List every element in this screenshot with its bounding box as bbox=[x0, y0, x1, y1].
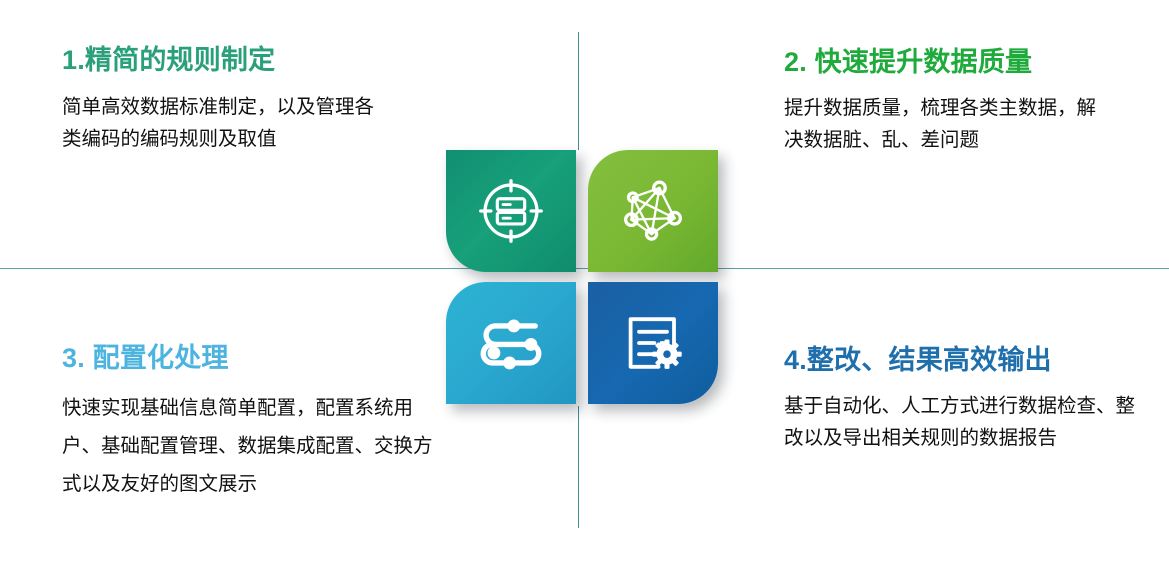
quadrant-1-title: 1.精简的规则制定 bbox=[62, 38, 392, 77]
tile-report-output[interactable] bbox=[588, 282, 718, 404]
network-graph-icon bbox=[617, 175, 689, 247]
vertical-divider-bottom bbox=[578, 406, 579, 528]
quadrant-4-body: 基于自动化、人工方式进行数据检查、整改以及导出相关规则的数据报告 bbox=[784, 391, 1154, 454]
quadrant-2-body: 提升数据质量，梳理各类主数据，解决数据脏、乱、差问题 bbox=[784, 93, 1114, 156]
quadrant-3-title: 3. 配置化处理 bbox=[62, 336, 442, 375]
quadrant-2: 2. 快速提升数据质量 提升数据质量，梳理各类主数据，解决数据脏、乱、差问题 bbox=[784, 40, 1114, 156]
icon-tile-cluster bbox=[446, 150, 718, 404]
quadrant-4: 4.整改、结果高效输出 基于自动化、人工方式进行数据检查、整改以及导出相关规则的… bbox=[784, 338, 1154, 454]
quadrant-1-body: 简单高效数据标准制定，以及管理各类编码的编码规则及取值 bbox=[62, 91, 392, 156]
tile-rule-standard[interactable] bbox=[446, 150, 576, 272]
quadrant-1: 1.精简的规则制定 简单高效数据标准制定，以及管理各类编码的编码规则及取值 bbox=[62, 38, 392, 156]
database-target-icon bbox=[475, 175, 547, 247]
infographic-canvas: 1.精简的规则制定 简单高效数据标准制定，以及管理各类编码的编码规则及取值 2.… bbox=[0, 0, 1169, 569]
quadrant-2-title: 2. 快速提升数据质量 bbox=[784, 40, 1114, 79]
tile-configuration[interactable] bbox=[446, 282, 576, 404]
quadrant-3-body: 快速实现基础信息简单配置，配置系统用户、基础配置管理、数据集成配置、交换方式以及… bbox=[62, 389, 442, 503]
quadrant-3: 3. 配置化处理 快速实现基础信息简单配置，配置系统用户、基础配置管理、数据集成… bbox=[62, 336, 442, 503]
config-path-icon bbox=[474, 310, 548, 376]
tile-data-quality[interactable] bbox=[588, 150, 718, 272]
quadrant-4-title: 4.整改、结果高效输出 bbox=[784, 338, 1154, 377]
vertical-divider-top bbox=[578, 32, 579, 150]
document-gear-icon bbox=[618, 308, 688, 378]
